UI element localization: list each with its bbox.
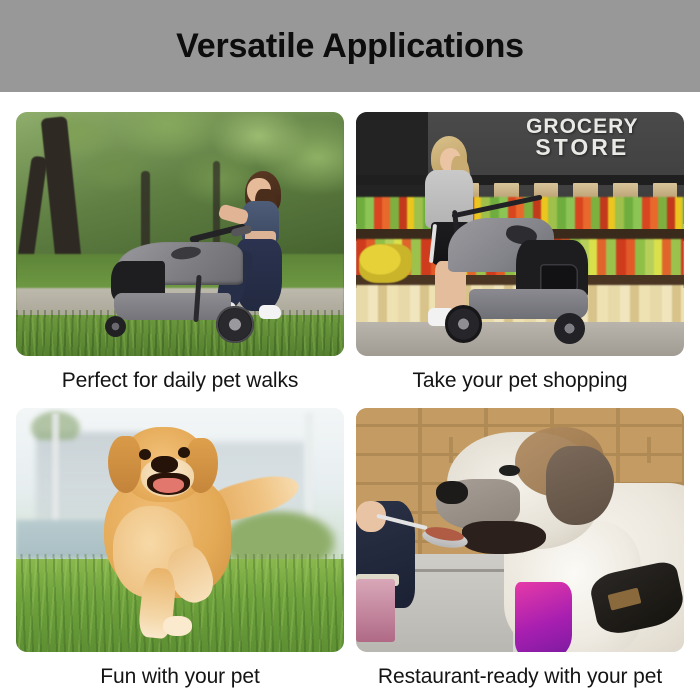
grocery-store-photo: GROCERY STORE <box>356 112 684 356</box>
pet-stroller <box>105 234 256 336</box>
ear <box>108 436 141 493</box>
sign-line-2: STORE <box>487 137 677 159</box>
running-dog-photo <box>16 408 344 652</box>
panel-park-walk: Perfect for daily pet walks <box>16 112 350 393</box>
panel-fun-with-pet: Fun with your pet <box>16 408 350 689</box>
page-title: Versatile Applications <box>176 27 524 66</box>
food-can <box>356 579 395 642</box>
rear-wheel <box>216 306 254 344</box>
mouth <box>462 521 546 554</box>
grocery-store-sign: GROCERY STORE <box>487 117 677 171</box>
eye <box>499 465 520 477</box>
shoe <box>259 305 281 319</box>
bandana <box>515 582 573 652</box>
golden-retriever <box>88 423 291 643</box>
dog-feeding-photo <box>356 408 684 652</box>
park-walk-photo <box>16 112 344 356</box>
panel-caption: Restaurant-ready with your pet <box>356 665 684 689</box>
header-banner: Versatile Applications <box>0 0 700 92</box>
nose <box>436 481 467 504</box>
panel-grocery-store: GROCERY STORE <box>356 112 690 393</box>
eye <box>178 447 190 458</box>
applications-grid: Perfect for daily pet walks GROCERY STOR… <box>0 92 700 700</box>
front-wheel <box>445 305 483 343</box>
front-wheel <box>105 316 126 337</box>
nose <box>151 456 177 474</box>
pet-stroller <box>441 210 612 347</box>
panel-caption: Take your pet shopping <box>356 369 684 393</box>
panel-caption: Perfect for daily pet walks <box>16 369 344 393</box>
panel-caption: Fun with your pet <box>16 665 344 689</box>
tongue <box>153 478 184 493</box>
paw <box>163 616 191 636</box>
bananas <box>359 244 411 283</box>
dog-figure <box>441 418 684 652</box>
rear-wheel <box>554 313 585 344</box>
stroller-basket <box>114 293 232 320</box>
panel-restaurant-ready: Restaurant-ready with your pet <box>356 408 690 689</box>
eye <box>139 449 151 460</box>
